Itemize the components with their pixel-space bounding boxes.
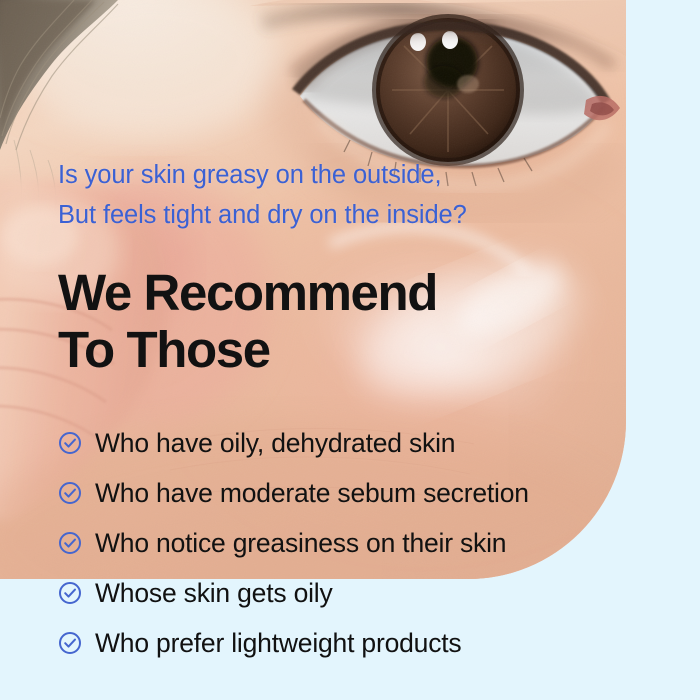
list-item: Who prefer lightweight products [58,619,529,667]
list-item: Who have oily, dehydrated skin [58,419,529,467]
list-item: Whose skin gets oily [58,569,529,617]
recommendation-list: Who have oily, dehydrated skin Who have … [58,419,529,669]
headline-line-2: To Those [58,321,437,378]
page-title: We Recommend To Those [58,264,437,378]
check-circle-icon [58,531,82,555]
list-item-label: Who have moderate sebum secretion [95,480,529,507]
list-item-label: Who have oily, dehydrated skin [95,430,455,457]
lead-question: Is your skin greasy on the outside, But … [58,155,467,235]
list-item: Who notice greasiness on their skin [58,519,529,567]
list-item-label: Whose skin gets oily [95,580,333,607]
lead-line-1: Is your skin greasy on the outside, [58,155,467,195]
headline-line-1: We Recommend [58,264,437,321]
check-circle-icon [58,431,82,455]
list-item: Who have moderate sebum secretion [58,469,529,517]
promo-banner: Is your skin greasy on the outside, But … [0,0,700,700]
list-item-label: Who prefer lightweight products [95,630,461,657]
lead-line-2: But feels tight and dry on the inside? [58,195,467,235]
check-circle-icon [58,481,82,505]
check-circle-icon [58,581,82,605]
check-circle-icon [58,631,82,655]
list-item-label: Who notice greasiness on their skin [95,530,506,557]
